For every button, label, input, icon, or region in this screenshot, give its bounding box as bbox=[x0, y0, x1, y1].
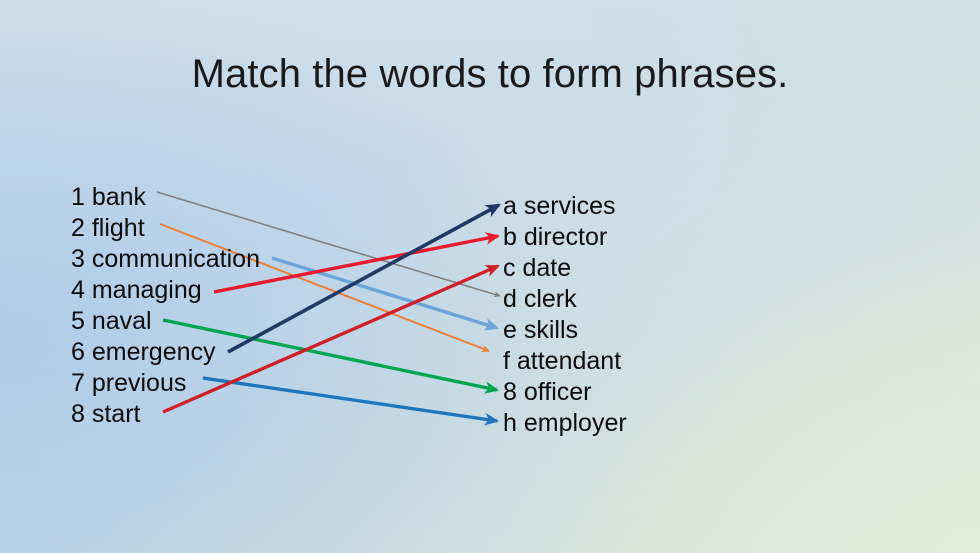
list-item[interactable]: 4 managing bbox=[71, 275, 260, 306]
list-item[interactable]: c date bbox=[503, 253, 627, 284]
list-item[interactable]: e skills bbox=[503, 315, 627, 346]
list-item[interactable]: 8 officer bbox=[503, 377, 627, 408]
list-item[interactable]: 7 previous bbox=[71, 368, 260, 399]
list-item[interactable]: 6 emergency bbox=[71, 337, 260, 368]
list-item[interactable]: 3 communication bbox=[71, 244, 260, 275]
list-item[interactable]: 8 start bbox=[71, 399, 260, 430]
list-item[interactable]: 2 flight bbox=[71, 213, 260, 244]
list-item[interactable]: h employer bbox=[503, 408, 627, 439]
slide-canvas: Match the words to form phrases. 1 bank … bbox=[0, 0, 980, 553]
left-word-column: 1 bank 2 flight 3 communication 4 managi… bbox=[71, 182, 260, 430]
list-item[interactable]: f attendant bbox=[503, 346, 627, 377]
list-item[interactable]: a services bbox=[503, 191, 627, 222]
list-item[interactable]: b director bbox=[503, 222, 627, 253]
page-title: Match the words to form phrases. bbox=[0, 50, 980, 98]
list-item[interactable]: 5 naval bbox=[71, 306, 260, 337]
list-item[interactable]: 1 bank bbox=[71, 182, 260, 213]
right-word-column: a services b director c date d clerk e s… bbox=[503, 191, 627, 439]
list-item[interactable]: d clerk bbox=[503, 284, 627, 315]
